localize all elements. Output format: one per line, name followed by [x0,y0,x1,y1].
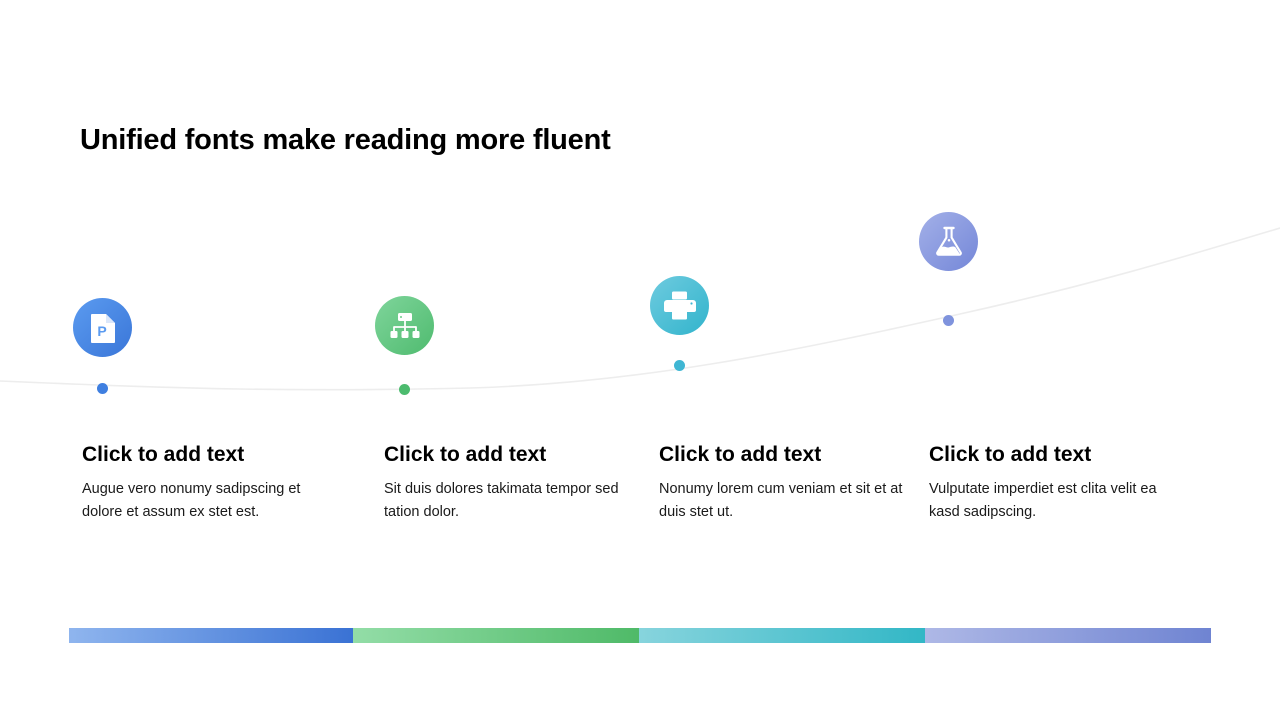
icon-circle-3[interactable] [650,276,709,335]
column-body[interactable]: Sit duis dolores takimata tempor sed tat… [384,478,636,524]
flask-icon [934,226,964,257]
text-column-1: Click to add text Augue vero nonumy sadi… [82,441,334,524]
bar-segment-1 [69,628,353,643]
page-title[interactable]: Unified fonts make reading more fluent [80,124,611,157]
bar-segment-3 [639,628,925,643]
icon-circle-1[interactable]: P [73,298,132,357]
column-heading[interactable]: Click to add text [82,441,334,469]
org-chart-icon [390,312,420,340]
column-heading[interactable]: Click to add text [929,441,1191,469]
bottom-color-bar [69,628,1211,643]
slide-canvas: Unified fonts make reading more fluent P [0,0,1280,720]
bar-segment-4 [925,628,1211,643]
curve-dot-1 [97,383,108,394]
svg-text:P: P [97,323,106,339]
printer-icon [664,291,696,320]
icon-circle-2[interactable] [375,296,434,355]
curve-dot-3 [674,360,685,371]
column-body[interactable]: Augue vero nonumy sadipscing et dolore e… [82,478,334,524]
text-column-3: Click to add text Nonumy lorem cum venia… [659,441,921,524]
bar-segment-2 [353,628,639,643]
text-column-2: Click to add text Sit duis dolores takim… [384,441,636,524]
curve-dot-2 [399,384,410,395]
column-body[interactable]: Nonumy lorem cum veniam et sit et at dui… [659,478,921,524]
column-heading[interactable]: Click to add text [659,441,921,469]
icon-circle-4[interactable] [919,212,978,271]
column-heading[interactable]: Click to add text [384,441,636,469]
column-body[interactable]: Vulputate imperdiet est clita velit ea k… [929,478,1191,524]
text-column-4: Click to add text Vulputate imperdiet es… [929,441,1191,524]
timeline-curve [0,0,1280,720]
curve-dot-4 [943,315,954,326]
file-presentation-icon: P [89,313,117,343]
